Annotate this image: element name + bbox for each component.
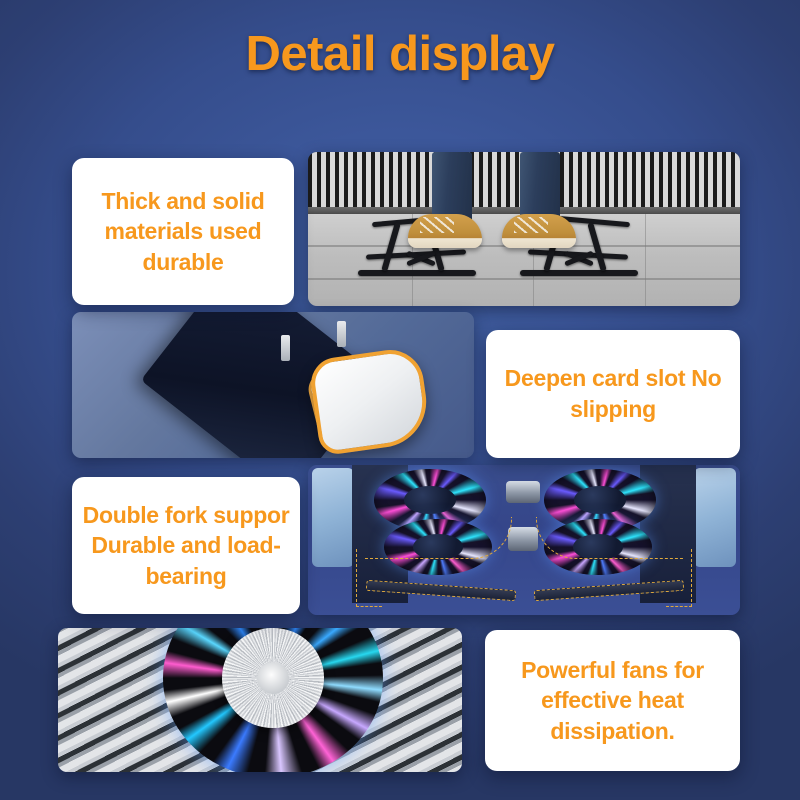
sneaker-right bbox=[502, 214, 576, 248]
feature-card-powerful-fans: Powerful fans for effective heat dissipa… bbox=[485, 630, 740, 771]
fork-leg-left bbox=[356, 549, 382, 607]
product-detail-poster: Detail display bbox=[0, 0, 800, 800]
feature-card-powerful-fans-text: Powerful fans for effective heat dissipa… bbox=[485, 655, 740, 747]
feature-card-thick-solid: Thick and solid materials used durable bbox=[72, 158, 294, 305]
sneaker-left bbox=[408, 214, 482, 248]
fork-outline-right bbox=[536, 517, 684, 559]
rgb-fan-macro bbox=[163, 628, 383, 772]
dual-rgb-fans-underside-photo bbox=[308, 465, 740, 615]
feet-on-laptop-stands-photo bbox=[308, 152, 740, 306]
center-hinge-bottom bbox=[508, 527, 538, 551]
single-rgb-fan-macro-photo bbox=[58, 628, 462, 772]
stand-side-panel-right bbox=[694, 468, 736, 567]
feature-card-double-fork-support-text: Double fork suppor Durable and load-bear… bbox=[72, 500, 300, 592]
center-hinge-top bbox=[506, 481, 540, 503]
metal-pin-2 bbox=[337, 321, 346, 347]
card-slot-closeup-photo bbox=[72, 312, 474, 458]
fork-leg-right bbox=[666, 549, 692, 607]
fan-metal-hub bbox=[222, 628, 323, 728]
metal-pin-1 bbox=[281, 335, 290, 361]
feature-card-double-fork-support: Double fork suppor Durable and load-bear… bbox=[72, 477, 300, 614]
feature-card-thick-solid-text: Thick and solid materials used durable bbox=[72, 186, 294, 278]
page-title: Detail display bbox=[0, 26, 800, 82]
feature-card-deepen-card-slot: Deepen card slot No slipping bbox=[486, 330, 740, 458]
stand-side-panel-left bbox=[312, 468, 354, 567]
fork-outline-left bbox=[364, 517, 512, 559]
feature-card-deepen-card-slot-text: Deepen card slot No slipping bbox=[486, 363, 740, 424]
